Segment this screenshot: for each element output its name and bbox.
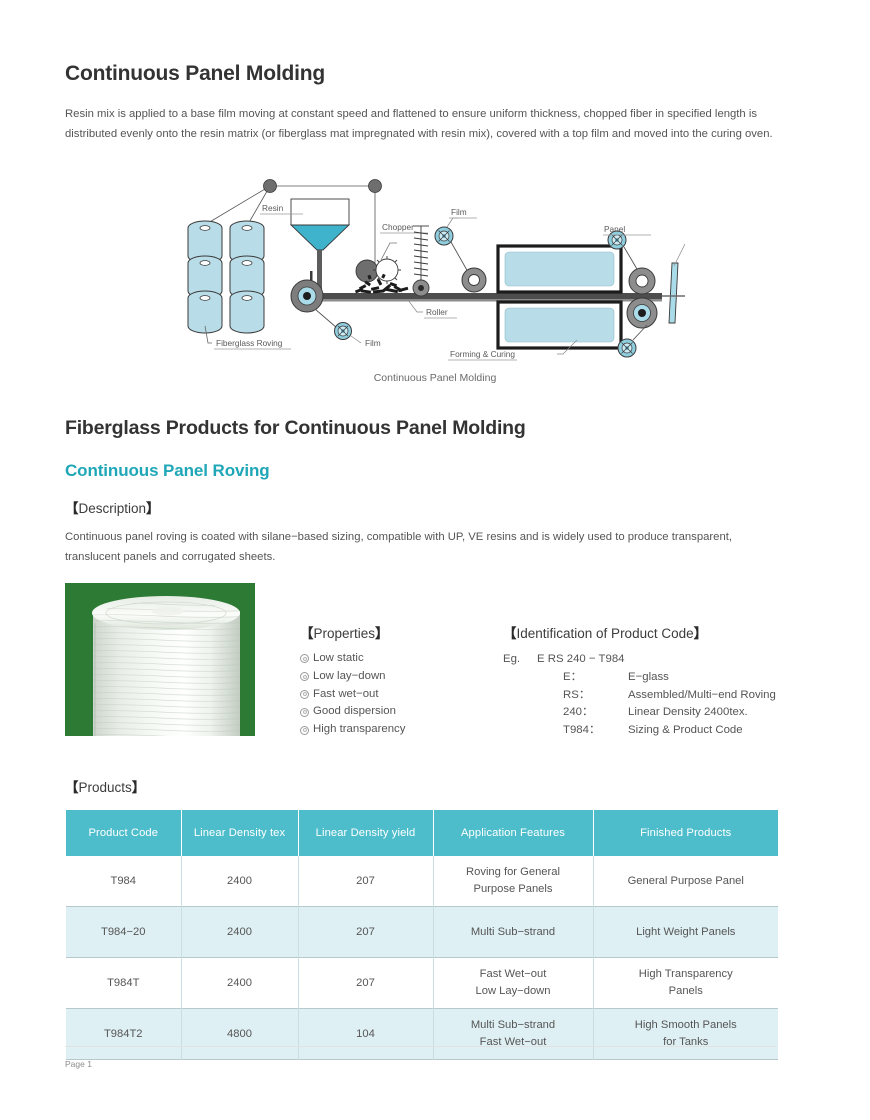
cell-features: Multi Sub−strandFast Wet−out	[433, 1009, 593, 1060]
cell-features: Multi Sub−strand	[433, 907, 593, 958]
bottom-film-reel	[315, 309, 352, 340]
column-header-linear-density-tex: Linear Density tex	[181, 810, 298, 856]
page-title: Continuous Panel Molding	[65, 62, 325, 86]
column-header-application-features: Application Features	[433, 810, 593, 856]
page-number: Page 1	[65, 1059, 92, 1069]
identification-row: 240： Linear Density 2400tex.	[503, 704, 776, 722]
diagram-label-forming-curing: Forming & Curing	[450, 349, 515, 359]
property-item: Low static	[300, 650, 405, 668]
table-row: T984T 2400 207 Fast Wet−outLow Lay−down …	[66, 958, 778, 1009]
intro-paragraph: Resin mix is applied to a base film movi…	[65, 105, 773, 144]
cell-finished: General Purpose Panel	[593, 856, 778, 907]
press-roller	[462, 268, 486, 292]
identification-value: Linear Density 2400tex.	[628, 704, 748, 722]
identification-heading-label: Identification of Product Code	[517, 626, 694, 641]
properties-heading-label: Properties	[314, 626, 376, 641]
diagram-label-film-bottom: Film	[365, 338, 381, 348]
figure-caption: Continuous Panel Molding	[0, 372, 870, 384]
properties-heading: 【Properties】	[300, 622, 405, 642]
top-pulley-right	[369, 180, 382, 193]
cell-product-code: T984T2	[66, 1009, 181, 1060]
description-heading: 【Description】	[65, 497, 160, 517]
column-header-linear-density-yield: Linear Density yield	[298, 810, 433, 856]
property-label: Fast wet−out	[313, 686, 379, 704]
bullet-icon	[300, 690, 309, 699]
identification-key: RS：	[563, 687, 628, 705]
bullet-icon	[300, 672, 309, 681]
top-pulley-left	[264, 180, 277, 193]
bracket-close: 】	[375, 626, 389, 641]
column-header-finished-products: Finished Products	[593, 810, 778, 856]
cell-product-code: T984−20	[66, 907, 181, 958]
section-title: Fiberglass Products for Continuous Panel…	[65, 417, 526, 440]
identification-value: E−glass	[628, 669, 669, 687]
cell-yield: 104	[298, 1009, 433, 1060]
cell-tex: 2400	[181, 907, 298, 958]
bracket-open: 【	[300, 626, 314, 641]
cell-yield: 207	[298, 907, 433, 958]
description-heading-label: Description	[79, 501, 147, 516]
diagram-label-fiberglass-roving: Fiberglass Roving	[216, 338, 283, 348]
identification-block: 【Identification of Product Code】 Eg. E R…	[503, 622, 776, 740]
property-label: High transparency	[313, 721, 405, 739]
property-item: Good dispersion	[300, 703, 405, 721]
bottom-left-roller	[291, 280, 323, 312]
cell-product-code: T984T	[66, 958, 181, 1009]
identification-key: 240：	[563, 704, 628, 722]
cell-yield: 207	[298, 958, 433, 1009]
coil-element	[413, 226, 429, 284]
bracket-open: 【	[65, 501, 79, 516]
table-row: T984−20 2400 207 Multi Sub−strand Light …	[66, 907, 778, 958]
identification-key: E：	[563, 669, 628, 687]
property-label: Low static	[313, 650, 364, 668]
cell-product-code: T984	[66, 856, 181, 907]
identification-value: Assembled/Multi−end Roving	[628, 687, 776, 705]
cell-finished: High Smooth Panelsfor Tanks	[593, 1009, 778, 1060]
identification-key: T984：	[563, 722, 628, 740]
footer-divider	[65, 1046, 777, 1047]
cell-finished: Light Weight Panels	[593, 907, 778, 958]
cell-finished: High TransparencyPanels	[593, 958, 778, 1009]
cell-features: Fast Wet−outLow Lay−down	[433, 958, 593, 1009]
property-label: Good dispersion	[313, 703, 396, 721]
diagram-label-film-top: Film	[451, 207, 467, 217]
property-label: Low lay−down	[313, 668, 386, 686]
identification-eg-code: E RS 240 − T984	[537, 651, 625, 669]
diagram-label-panel: Panel	[604, 224, 625, 234]
bullet-icon	[300, 654, 309, 663]
roving-spool-photo	[65, 583, 255, 736]
description-body: Continuous panel roving is coated with s…	[65, 528, 765, 567]
bracket-close: 】	[694, 626, 708, 641]
document-page: Continuous Panel Molding Resin mix is ap…	[0, 0, 870, 1120]
cell-features: Roving for GeneralPurpose Panels	[433, 856, 593, 907]
properties-block: 【Properties】 Low static Low lay−down Fas…	[300, 622, 405, 739]
finished-panel	[662, 263, 685, 323]
column-header-product-code: Product Code	[66, 810, 181, 856]
product-title: Continuous Panel Roving	[65, 461, 270, 481]
bullet-icon	[300, 708, 309, 717]
property-item: High transparency	[300, 721, 405, 739]
bracket-close: 】	[146, 501, 160, 516]
cell-tex: 4800	[181, 1009, 298, 1060]
identification-row: RS： Assembled/Multi−end Roving	[503, 687, 776, 705]
conveyor-belt	[297, 293, 662, 299]
product-photo	[65, 583, 255, 736]
table-header-row: Product Code Linear Density tex Linear D…	[66, 810, 778, 856]
top-film-reel	[435, 227, 468, 272]
diagram-label-roller: Roller	[426, 307, 448, 317]
resin-hopper	[291, 199, 349, 294]
identification-heading: 【Identification of Product Code】	[503, 622, 776, 642]
process-diagram: Fiberglass Roving Resin	[185, 168, 685, 368]
identification-row: E： E−glass	[503, 669, 776, 687]
diagram-label-chopper: Chopper	[382, 222, 414, 232]
property-item: Low lay−down	[300, 668, 405, 686]
identification-value: Sizing & Product Code	[628, 722, 743, 740]
table-row: T984 2400 207 Roving for GeneralPurpose …	[66, 856, 778, 907]
bracket-close: 】	[132, 780, 146, 795]
fiberglass-roving-spools	[188, 221, 264, 333]
identification-example: Eg. E RS 240 − T984	[503, 651, 776, 669]
cell-tex: 2400	[181, 856, 298, 907]
bullet-icon	[300, 726, 309, 735]
process-diagram-svg: Fiberglass Roving Resin	[185, 168, 685, 368]
exit-roller-lower	[627, 298, 657, 328]
diagram-label-resin: Resin	[262, 203, 284, 213]
identification-row: T984： Sizing & Product Code	[503, 722, 776, 740]
bracket-open: 【	[65, 780, 79, 795]
identification-eg-label: Eg.	[503, 651, 537, 669]
cell-yield: 207	[298, 856, 433, 907]
table-row: T984T2 4800 104 Multi Sub−strandFast Wet…	[66, 1009, 778, 1060]
products-heading: 【Products】	[65, 776, 145, 796]
property-item: Fast wet−out	[300, 686, 405, 704]
bracket-open: 【	[503, 626, 517, 641]
products-table: Product Code Linear Density tex Linear D…	[66, 810, 778, 1060]
exit-roller-upper	[629, 268, 655, 294]
cell-tex: 2400	[181, 958, 298, 1009]
products-heading-label: Products	[79, 780, 132, 795]
